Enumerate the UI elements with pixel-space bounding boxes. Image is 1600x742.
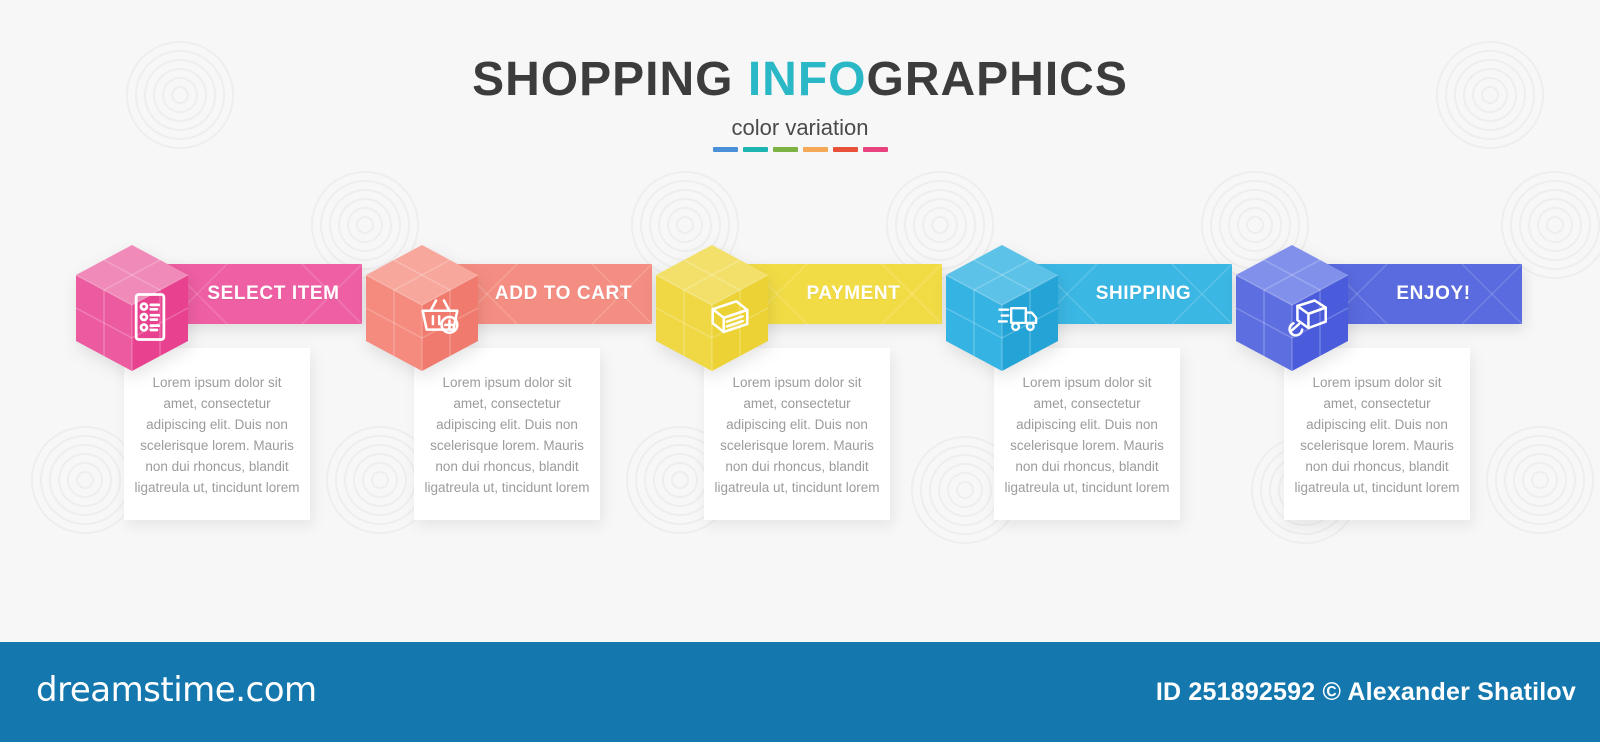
step-1[interactable]: Lorem ipsum dolor sit amet, consectetur … [72,243,362,533]
step-label: SELECT ITEM [189,283,339,305]
step-description-text: Lorem ipsum dolor sit amet, consectetur … [424,373,590,499]
step-cube [362,243,482,375]
step-cube [72,243,192,375]
step-cube [1232,243,1352,375]
step-label-ribbon[interactable]: ADD TO CART [457,264,652,324]
step-label-ribbon[interactable]: SELECT ITEM [167,264,362,324]
step-3[interactable]: Lorem ipsum dolor sit amet, consectetur … [652,243,942,533]
step-cube [652,243,772,375]
step-label: SHIPPING [1078,283,1192,305]
step-label: ADD TO CART [477,283,632,305]
footer-bar: dreamstime.com ID 251892592 © Alexander … [0,642,1600,742]
dreamstime-logo: dreamstime.com [36,670,317,710]
step-description-text: Lorem ipsum dolor sit amet, consectetur … [1294,373,1460,499]
brand-text: dreamstime.com [36,670,317,710]
step-4[interactable]: Lorem ipsum dolor sit amet, consectetur … [942,243,1232,533]
step-description-text: Lorem ipsum dolor sit amet, consectetur … [1004,373,1170,499]
step-label: ENJOY! [1378,283,1470,305]
steps-container: Lorem ipsum dolor sit amet, consectetur … [0,0,1600,630]
step-label-ribbon[interactable]: SHIPPING [1037,264,1232,324]
step-label: PAYMENT [789,283,901,305]
step-2[interactable]: Lorem ipsum dolor sit amet, consectetur … [362,243,652,533]
image-credit: ID 251892592 © Alexander Shatilov [1156,678,1576,707]
step-description-text: Lorem ipsum dolor sit amet, consectetur … [134,373,300,499]
step-cube [942,243,1062,375]
step-label-ribbon[interactable]: ENJOY! [1327,264,1522,324]
step-label-ribbon[interactable]: PAYMENT [747,264,942,324]
step-description-text: Lorem ipsum dolor sit amet, consectetur … [714,373,880,499]
infographic-canvas: SHOPPING INFOGRAPHICS color variation Lo… [0,0,1600,630]
step-5[interactable]: Lorem ipsum dolor sit amet, consectetur … [1232,243,1522,533]
